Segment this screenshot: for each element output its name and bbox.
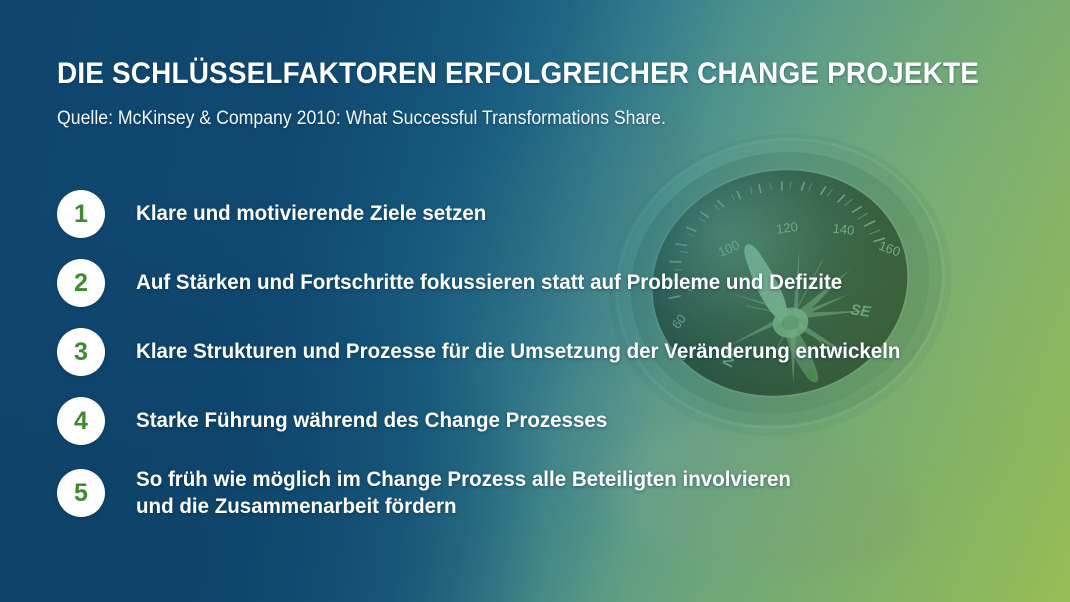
number-badge-3: 3	[57, 328, 105, 376]
number-badge-2: 2	[57, 259, 105, 307]
list-item-text: Klare Strukturen und Prozesse für die Um…	[136, 338, 900, 365]
list-item-text: So früh wie möglich im Change Prozess al…	[136, 466, 791, 520]
list-item: 2 Auf Stärken und Fortschritte fokussier…	[57, 259, 1047, 307]
list-item: 4 Starke Führung während des Change Proz…	[57, 397, 1047, 445]
slide-subtitle: Quelle: McKinsey & Company 2010: What Su…	[57, 108, 666, 130]
success-factors-list: 1 Klare und motivierende Ziele setzen 2 …	[57, 190, 1047, 541]
number-badge-1: 1	[57, 190, 105, 238]
list-item: 1 Klare und motivierende Ziele setzen	[57, 190, 1047, 238]
list-item-text: Auf Stärken und Fortschritte fokussieren…	[136, 269, 842, 296]
slide-canvas: 20 40 60 80 100 120 140 160	[0, 0, 1070, 602]
list-item: 3 Klare Strukturen und Prozesse für die …	[57, 328, 1047, 376]
list-item-text: Starke Führung während des Change Prozes…	[136, 407, 607, 434]
number-badge-5: 5	[57, 469, 105, 517]
slide-content: DIE SCHLÜSSELFAKTOREN ERFOLGREICHER CHAN…	[0, 0, 1070, 602]
number-badge-4: 4	[57, 397, 105, 445]
list-item: 5 So früh wie möglich im Change Prozess …	[57, 466, 1047, 520]
slide-title: DIE SCHLÜSSELFAKTOREN ERFOLGREICHER CHAN…	[57, 57, 979, 91]
list-item-text: Klare und motivierende Ziele setzen	[136, 200, 486, 227]
